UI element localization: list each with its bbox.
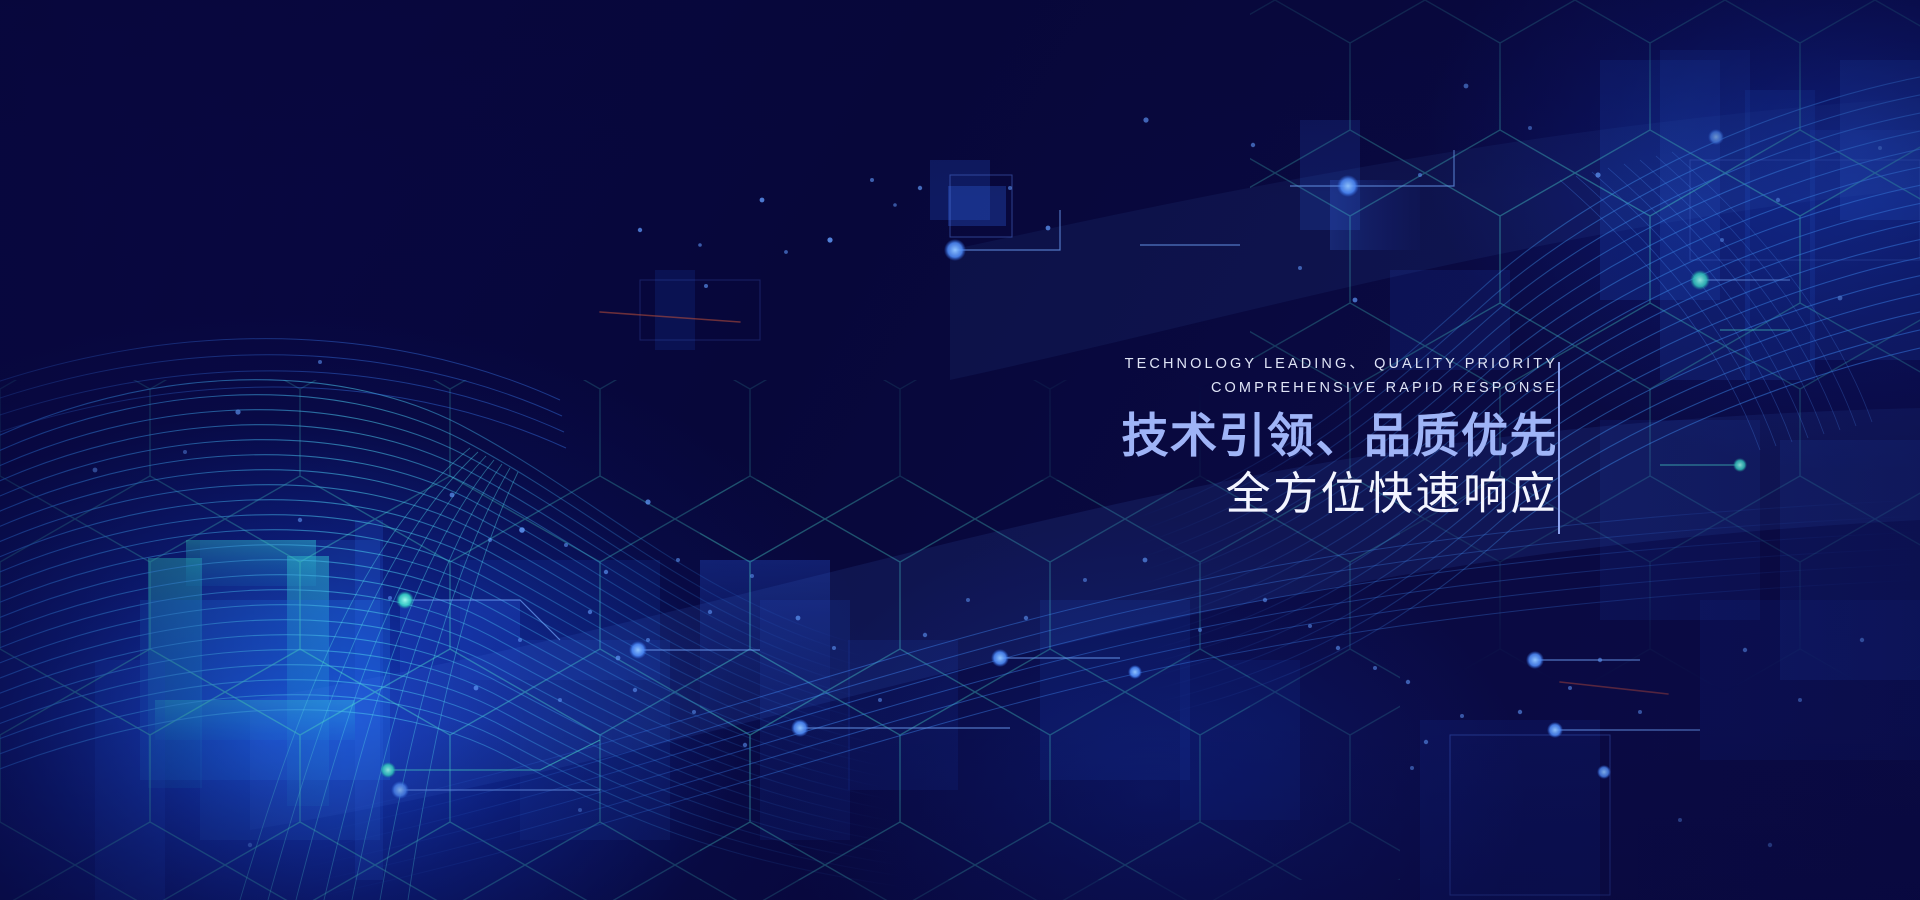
block-shapes-layer: [0, 0, 1920, 900]
vertical-divider: [1558, 362, 1560, 534]
headline-text-block: TECHNOLOGY LEADING、 QUALITY PRIORITY COM…: [980, 352, 1558, 521]
vignette-layer: [0, 0, 1920, 900]
wave-sweep-upper-left: [0, 339, 566, 448]
eyebrow-line-1: TECHNOLOGY LEADING、 QUALITY PRIORITY: [980, 352, 1558, 376]
wave-comb-right: [1560, 152, 1872, 450]
wave-ribbon-center: [300, 500, 1920, 900]
wave-fan-left: [0, 380, 904, 887]
eyebrow-line-2: COMPREHENSIVE RAPID RESPONSE: [980, 376, 1558, 400]
headline-line-1: 技术引领、品质优先: [980, 408, 1558, 464]
tech-banner: TECHNOLOGY LEADING、 QUALITY PRIORITY COM…: [0, 0, 1920, 900]
wave-fan-left-steep: [240, 448, 518, 900]
headline-line-2: 全方位快速响应: [980, 466, 1558, 521]
ribbon-band-2: [950, 98, 1920, 380]
hexagon-mesh-layer: [0, 0, 1920, 900]
wave-lines-layer: [0, 0, 1920, 900]
nodes-layer: [0, 0, 1920, 900]
hexagon-grid-center: [700, 480, 1400, 880]
